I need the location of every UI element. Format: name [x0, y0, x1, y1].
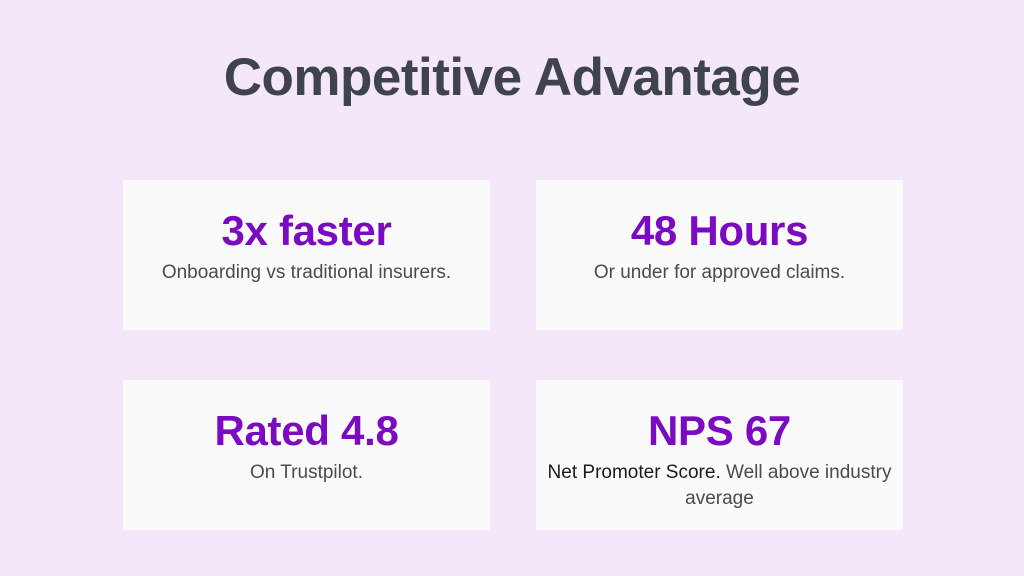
stat-description: Net Promoter Score. Well above industry …: [536, 460, 903, 512]
stat-card-trustpilot-rating: Rated 4.8 On Trustpilot.: [123, 380, 490, 530]
slide-competitive-advantage: Competitive Advantage 3x faster Onboardi…: [0, 0, 1024, 576]
stat-card-claim-turnaround: 48 Hours Or under for approved claims.: [536, 180, 903, 330]
stat-value: 48 Hours: [536, 206, 903, 256]
stat-description: On Trustpilot.: [123, 460, 490, 486]
stat-value: Rated 4.8: [123, 406, 490, 456]
stat-description-text: Onboarding vs traditional insurers.: [162, 262, 451, 283]
stat-description: Or under for approved claims.: [536, 260, 903, 286]
stat-description-text: On Trustpilot.: [250, 462, 363, 483]
stat-description-lead: Net Promoter Score.: [548, 462, 726, 483]
page-title: Competitive Advantage: [0, 47, 1024, 109]
stat-value: 3x faster: [123, 206, 490, 256]
stat-description-text: Or under for approved claims.: [594, 262, 845, 283]
stat-value: NPS 67: [536, 406, 903, 456]
stat-description: Onboarding vs traditional insurers.: [123, 260, 490, 286]
stat-card-nps: NPS 67 Net Promoter Score. Well above in…: [536, 380, 903, 530]
stat-card-onboarding-speed: 3x faster Onboarding vs traditional insu…: [123, 180, 490, 330]
stat-card-grid: 3x faster Onboarding vs traditional insu…: [123, 180, 903, 530]
